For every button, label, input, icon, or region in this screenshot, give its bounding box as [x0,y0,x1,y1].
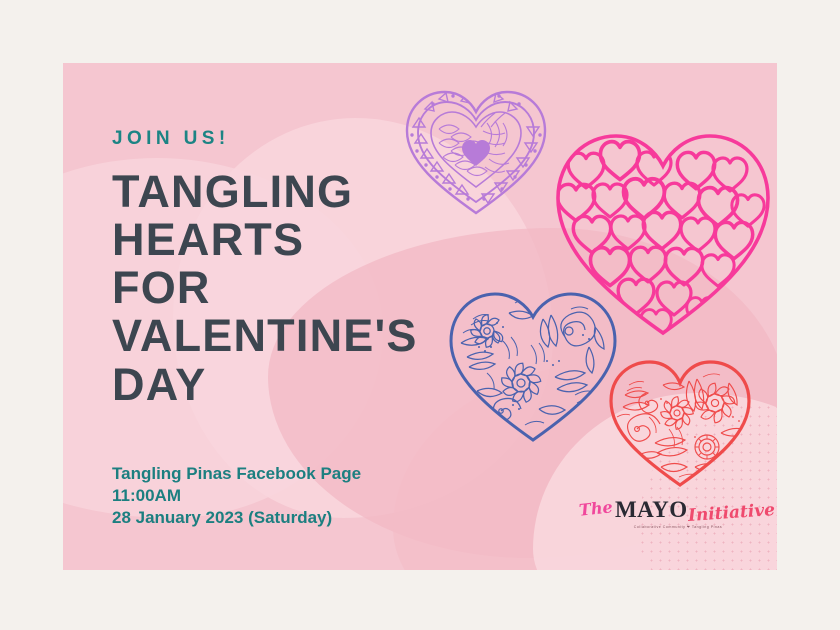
logo-tagline: Collaborative Community ❤ Tangling Pinas [603,526,753,530]
headline-line-5: DAY [112,361,452,409]
headline-line-4: VALENTINE'S [112,312,452,360]
event-date: 28 January 2023 (Saturday) [112,507,452,529]
event-venue: Tangling Pinas Facebook Page [112,463,452,485]
mayo-initiative-logo: The MAYO Initiative Collaborative Commun… [603,498,753,530]
poster-canvas: JOIN US! TANGLING HEARTS FOR VALENTINE'S… [63,63,777,570]
logo-word-initiative: Initiative [687,502,775,525]
logo-word-the: The [578,499,613,518]
poster-text-block: JOIN US! TANGLING HEARTS FOR VALENTINE'S… [112,129,452,529]
poster-frame: JOIN US! TANGLING HEARTS FOR VALENTINE'S… [0,0,840,630]
event-time: 11:00AM [112,485,452,507]
logo-word-mayo: MAYO [615,498,688,521]
headline-line-2: HEARTS [112,216,452,264]
purple-heart-center [462,140,490,166]
red-floral-zentangle-heart-icon [603,355,758,490]
headline-line-1: TANGLING [112,168,452,216]
logo-wordmark: The MAYO Initiative [603,498,753,521]
event-details: Tangling Pinas Facebook Page 11:00AM 28 … [112,463,452,529]
eyebrow-text: JOIN US! [112,129,452,148]
blue-floral-zentangle-heart-icon [443,285,623,445]
headline-line-3: FOR [112,264,452,312]
page-title: TANGLING HEARTS FOR VALENTINE'S DAY [112,168,452,409]
